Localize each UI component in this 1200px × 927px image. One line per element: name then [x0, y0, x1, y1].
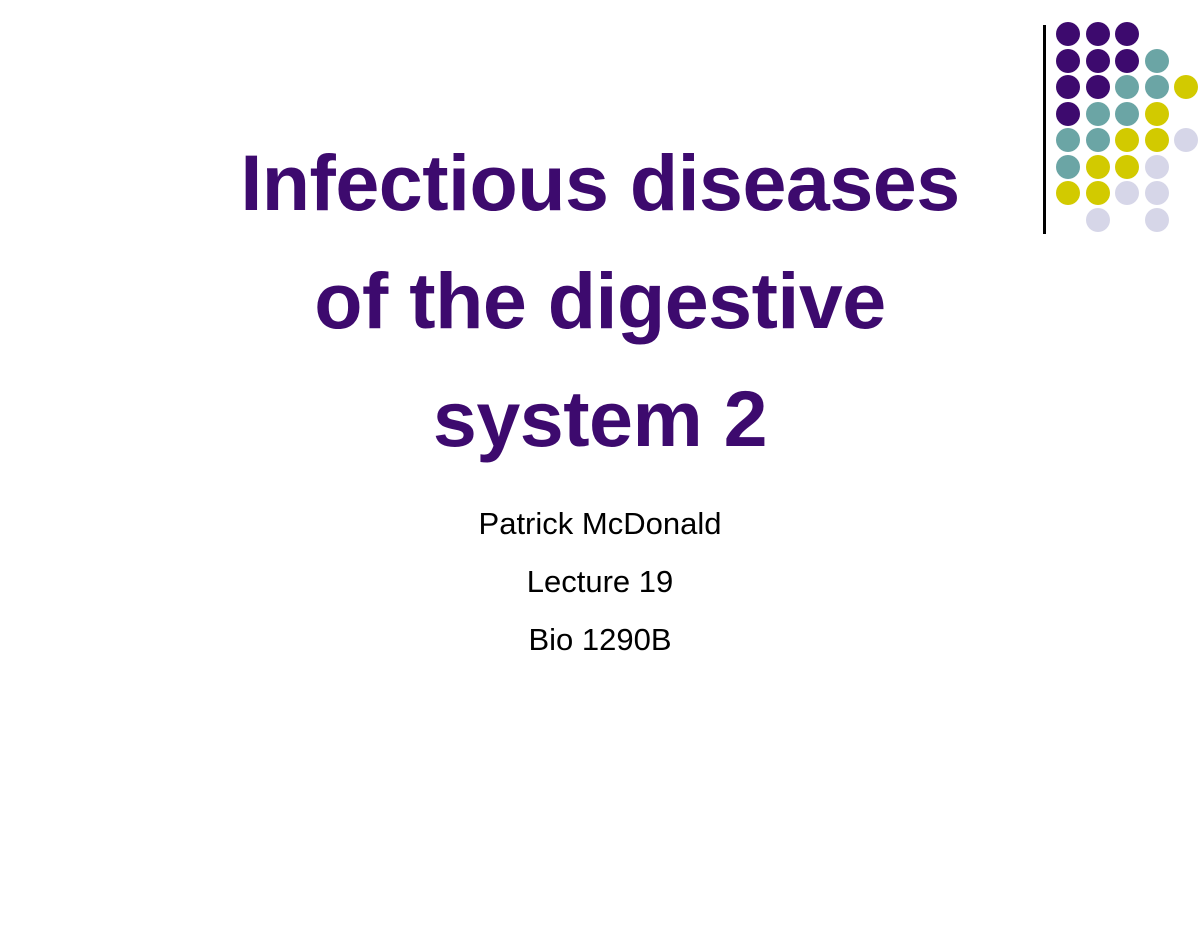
page-title: Infectious diseases of the digestive sys… [196, 124, 1004, 478]
dot-lavender-r7-c3 [1145, 208, 1169, 232]
dot-lavender-r7-c1 [1086, 208, 1110, 232]
dot-teal-r5-c0 [1056, 155, 1080, 179]
title-line-1: Infectious diseases [196, 124, 1004, 242]
dot-purple-r1-c0 [1056, 49, 1080, 73]
dot-lavender-r6-c3 [1145, 181, 1169, 205]
dot-purple-r0-c1 [1086, 22, 1110, 46]
logo-mark [1036, 22, 1200, 237]
dot-purple-r2-c0 [1056, 75, 1080, 99]
dot-teal-r2-c2 [1115, 75, 1139, 99]
dot-yellow-r5-c2 [1115, 155, 1139, 179]
dot-yellow-r4-c3 [1145, 128, 1169, 152]
dot-purple-r3-c0 [1056, 102, 1080, 126]
dot-lavender-r6-c2 [1115, 181, 1139, 205]
dot-teal-r3-c1 [1086, 102, 1110, 126]
dot-yellow-r4-c2 [1115, 128, 1139, 152]
dot-purple-r0-c0 [1056, 22, 1080, 46]
vertical-rule-divider [1043, 25, 1046, 234]
dot-lavender-r4-c4 [1174, 128, 1198, 152]
dot-yellow-r2-c4 [1174, 75, 1198, 99]
title-line-2: of the digestive [196, 242, 1004, 360]
dot-teal-r4-c0 [1056, 128, 1080, 152]
dot-teal-r3-c2 [1115, 102, 1139, 126]
dot-purple-r2-c1 [1086, 75, 1110, 99]
subtitle-lecture: Lecture 19 [300, 553, 900, 611]
dot-yellow-r6-c1 [1086, 181, 1110, 205]
dot-purple-r0-c2 [1115, 22, 1139, 46]
title-slide: Infectious diseases of the digestive sys… [0, 0, 1200, 927]
dot-teal-r1-c3 [1145, 49, 1169, 73]
dot-grid-icon [1056, 22, 1200, 237]
subtitle-course: Bio 1290B [300, 611, 900, 669]
dot-teal-r2-c3 [1145, 75, 1169, 99]
dot-yellow-r5-c1 [1086, 155, 1110, 179]
subtitle: Patrick McDonald Lecture 19 Bio 1290B [300, 495, 900, 669]
dot-purple-r1-c2 [1115, 49, 1139, 73]
dot-purple-r1-c1 [1086, 49, 1110, 73]
dot-yellow-r3-c3 [1145, 102, 1169, 126]
dot-teal-r4-c1 [1086, 128, 1110, 152]
dot-yellow-r6-c0 [1056, 181, 1080, 205]
subtitle-presenter: Patrick McDonald [300, 495, 900, 553]
title-line-3: system 2 [196, 360, 1004, 478]
dot-lavender-r5-c3 [1145, 155, 1169, 179]
